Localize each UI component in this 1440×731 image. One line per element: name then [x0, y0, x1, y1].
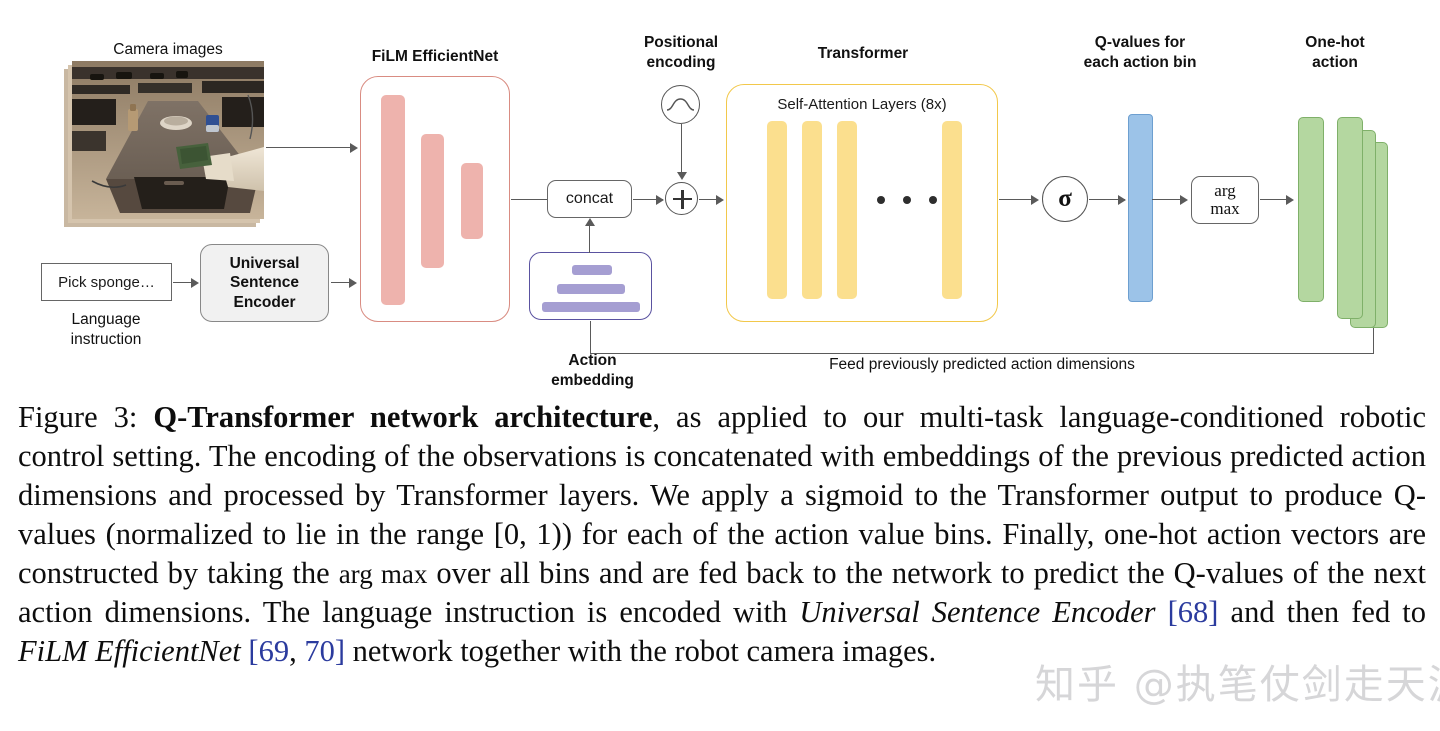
- robot-camera-photo: [72, 61, 264, 219]
- action-embedding-box[interactable]: [529, 252, 652, 320]
- connector-transformer-to-sigmoid: [999, 199, 1034, 200]
- caption-title: Q-Transformer network architecture: [153, 400, 652, 434]
- transformer-label: Transformer: [730, 44, 996, 64]
- arrow-plus-to-transformer: [716, 195, 724, 205]
- caption-use-italic: Universal Sentence Encoder: [799, 595, 1155, 629]
- film-bar-1: [381, 95, 405, 305]
- caption-argmax: arg max: [339, 559, 428, 589]
- figure-diagram: Camera images: [0, 0, 1440, 396]
- action-embedding-label: Action embedding: [520, 351, 665, 391]
- arrow-qbar-to-argmax: [1180, 195, 1188, 205]
- self-attention-layers-label: Self-Attention Layers (8x): [727, 96, 997, 113]
- transformer-box[interactable]: Self-Attention Layers (8x): [726, 84, 998, 322]
- feedback-label: Feed previously predicted action dimensi…: [770, 355, 1194, 375]
- caption-figure-number: Figure 3:: [18, 400, 153, 434]
- caption-ref-70[interactable]: 70]: [304, 634, 345, 668]
- one-hot-bar-2: [1337, 117, 1363, 319]
- add-operator-icon: [665, 182, 698, 215]
- arrow-text-to-use: [191, 278, 199, 288]
- connector-actemb-to-concat: [589, 226, 590, 253]
- film-bar-2: [421, 134, 444, 268]
- feedback-line-vertical-left: [590, 321, 591, 354]
- argmax-box[interactable]: arg max: [1191, 176, 1259, 224]
- one-hot-action-label: One-hot action: [1255, 33, 1415, 73]
- language-instruction-label: Language instruction: [26, 310, 186, 350]
- camera-images-label: Camera images: [38, 40, 298, 60]
- ellipsis-dots-icon: [877, 196, 937, 204]
- action-embedding-bar-1: [572, 265, 612, 275]
- arrow-sigmoid-to-qbar: [1118, 195, 1126, 205]
- caption-film-italic: FiLM EfficientNet: [18, 634, 241, 668]
- attention-layer-bar-4: [942, 121, 962, 299]
- caption-ref-68[interactable]: [68]: [1168, 595, 1219, 629]
- one-hot-bar-1: [1298, 117, 1324, 302]
- q-values-label: Q-values for each action bin: [1050, 33, 1230, 73]
- film-efficientnet-box[interactable]: [360, 76, 510, 322]
- sigmoid-icon: σ: [1042, 176, 1088, 222]
- connector-camera-to-film: [266, 147, 351, 148]
- connector-film-to-concat: [511, 199, 547, 200]
- caption-body-5: network together with the robot camera i…: [345, 634, 936, 668]
- film-bar-3: [461, 163, 483, 239]
- arrow-posenc-to-plus: [677, 172, 687, 180]
- arrow-use-to-film: [349, 278, 357, 288]
- caption-ref-69[interactable]: [69: [248, 634, 289, 668]
- film-efficientnet-label: FiLM EfficientNet: [300, 47, 570, 67]
- concat-box[interactable]: concat: [547, 180, 632, 218]
- camera-image-stack: [72, 61, 264, 219]
- language-instruction-input[interactable]: Pick sponge…: [41, 263, 172, 301]
- argmax-line-1: arg: [1210, 182, 1239, 200]
- arrow-camera-to-film: [350, 143, 358, 153]
- watermark: 知乎 @执笔仗剑走天涯: [1035, 652, 1440, 710]
- arrow-actemb-to-concat: [585, 218, 595, 226]
- action-embedding-bar-2: [557, 284, 625, 294]
- attention-layer-bar-1: [767, 121, 787, 299]
- argmax-line-2: max: [1210, 200, 1239, 218]
- action-embedding-bar-3: [542, 302, 640, 312]
- caption-range: [0, 1): [494, 517, 562, 551]
- caption-body-4: and then fed to: [1218, 595, 1426, 629]
- connector-posenc-to-plus: [681, 124, 682, 173]
- attention-layer-bar-2: [802, 121, 822, 299]
- connector-text-to-use: [173, 282, 193, 283]
- connector-use-to-film: [331, 282, 351, 283]
- attention-layer-bar-3: [837, 121, 857, 299]
- feedback-line-vertical-right: [1373, 326, 1374, 354]
- q-values-bar: [1128, 114, 1153, 302]
- sigmoid-symbol: σ: [1043, 177, 1087, 221]
- universal-sentence-encoder-box[interactable]: Universal Sentence Encoder: [200, 244, 329, 322]
- arrow-transformer-to-sigmoid: [1031, 195, 1039, 205]
- arrow-concat-to-plus: [656, 195, 664, 205]
- figure-caption: Figure 3: Q-Transformer network architec…: [18, 398, 1426, 671]
- arrow-argmax-to-onehot: [1286, 195, 1294, 205]
- positional-encoding-icon: [661, 85, 700, 124]
